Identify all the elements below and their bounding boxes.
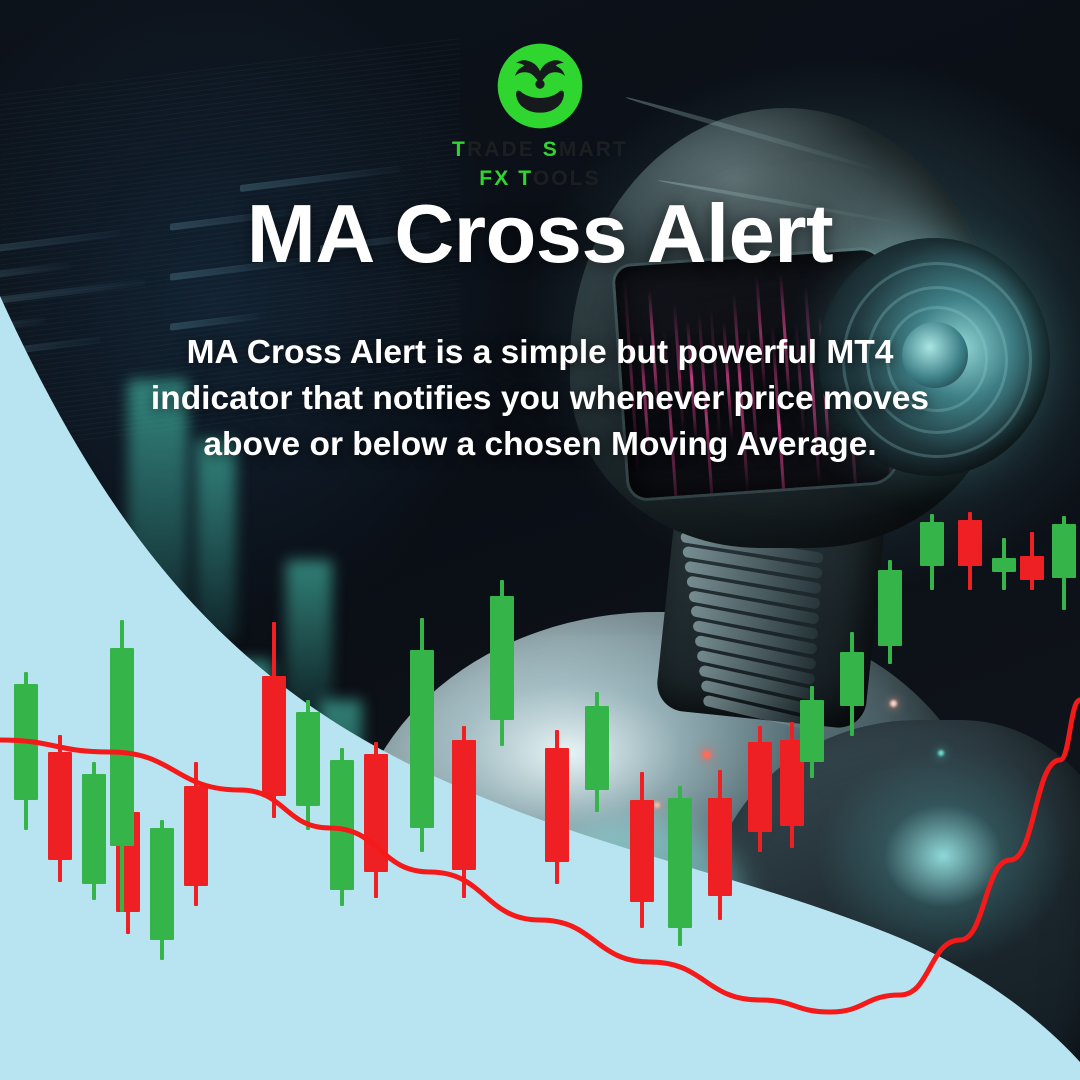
brand-line-1: TRADE SMART — [452, 139, 628, 160]
page-description: MA Cross Alert is a simple but powerful … — [140, 330, 940, 469]
brand-letter: S — [543, 138, 559, 161]
brand-letter: RADE — [467, 138, 543, 161]
brand-letter: T — [452, 138, 467, 161]
brand-letter: MART — [559, 138, 628, 161]
bull-bear-circle-icon — [494, 40, 586, 132]
brand-logo: TRADE SMART FX TOOLS — [0, 40, 1080, 189]
promo-graphic: TRADE SMART FX TOOLS MA Cross Alert MA C… — [0, 0, 1080, 1080]
page-title: MA Cross Alert — [0, 192, 1080, 275]
brand-line-2: FX TOOLS — [479, 168, 600, 189]
